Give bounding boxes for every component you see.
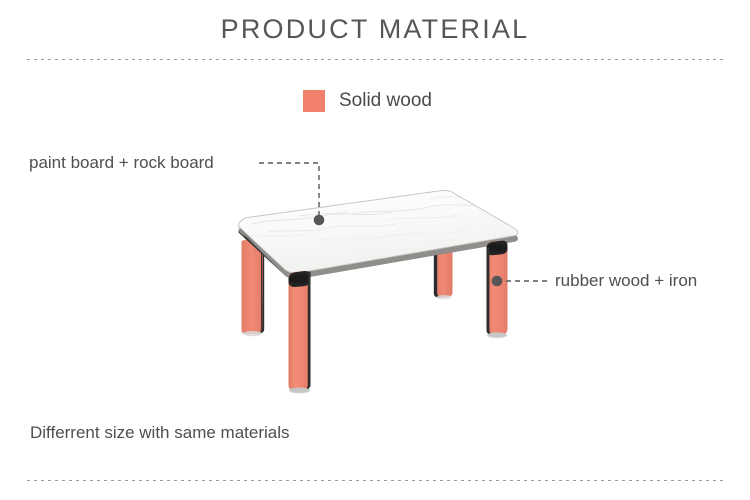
marker-dot-paint-board bbox=[314, 215, 325, 226]
color-swatch-icon bbox=[303, 90, 325, 112]
product-material-infographic: PRODUCT MATERIAL Solid wood bbox=[0, 0, 750, 500]
page-title: PRODUCT MATERIAL bbox=[0, 14, 750, 45]
divider-bottom bbox=[27, 480, 723, 481]
marker-dot-rubber-wood bbox=[492, 276, 503, 287]
table-leg-back-left bbox=[242, 233, 265, 336]
caption-different-size: Differrent size with same materials bbox=[30, 423, 290, 443]
table-leg-front-right bbox=[487, 241, 508, 339]
table-leg-back-right bbox=[434, 247, 453, 300]
legend-label-solid-wood: Solid wood bbox=[339, 90, 432, 112]
leader-line-paint-board bbox=[259, 163, 319, 218]
legend: Solid wood bbox=[303, 90, 432, 112]
table-top-surface bbox=[239, 190, 518, 272]
table-top bbox=[239, 190, 518, 278]
divider-top bbox=[27, 59, 723, 60]
table-leg-front-left bbox=[289, 271, 311, 394]
annotation-label-rubber-wood: rubber wood + iron bbox=[555, 271, 697, 291]
annotation-label-paint-board: paint board + rock board bbox=[29, 153, 214, 173]
